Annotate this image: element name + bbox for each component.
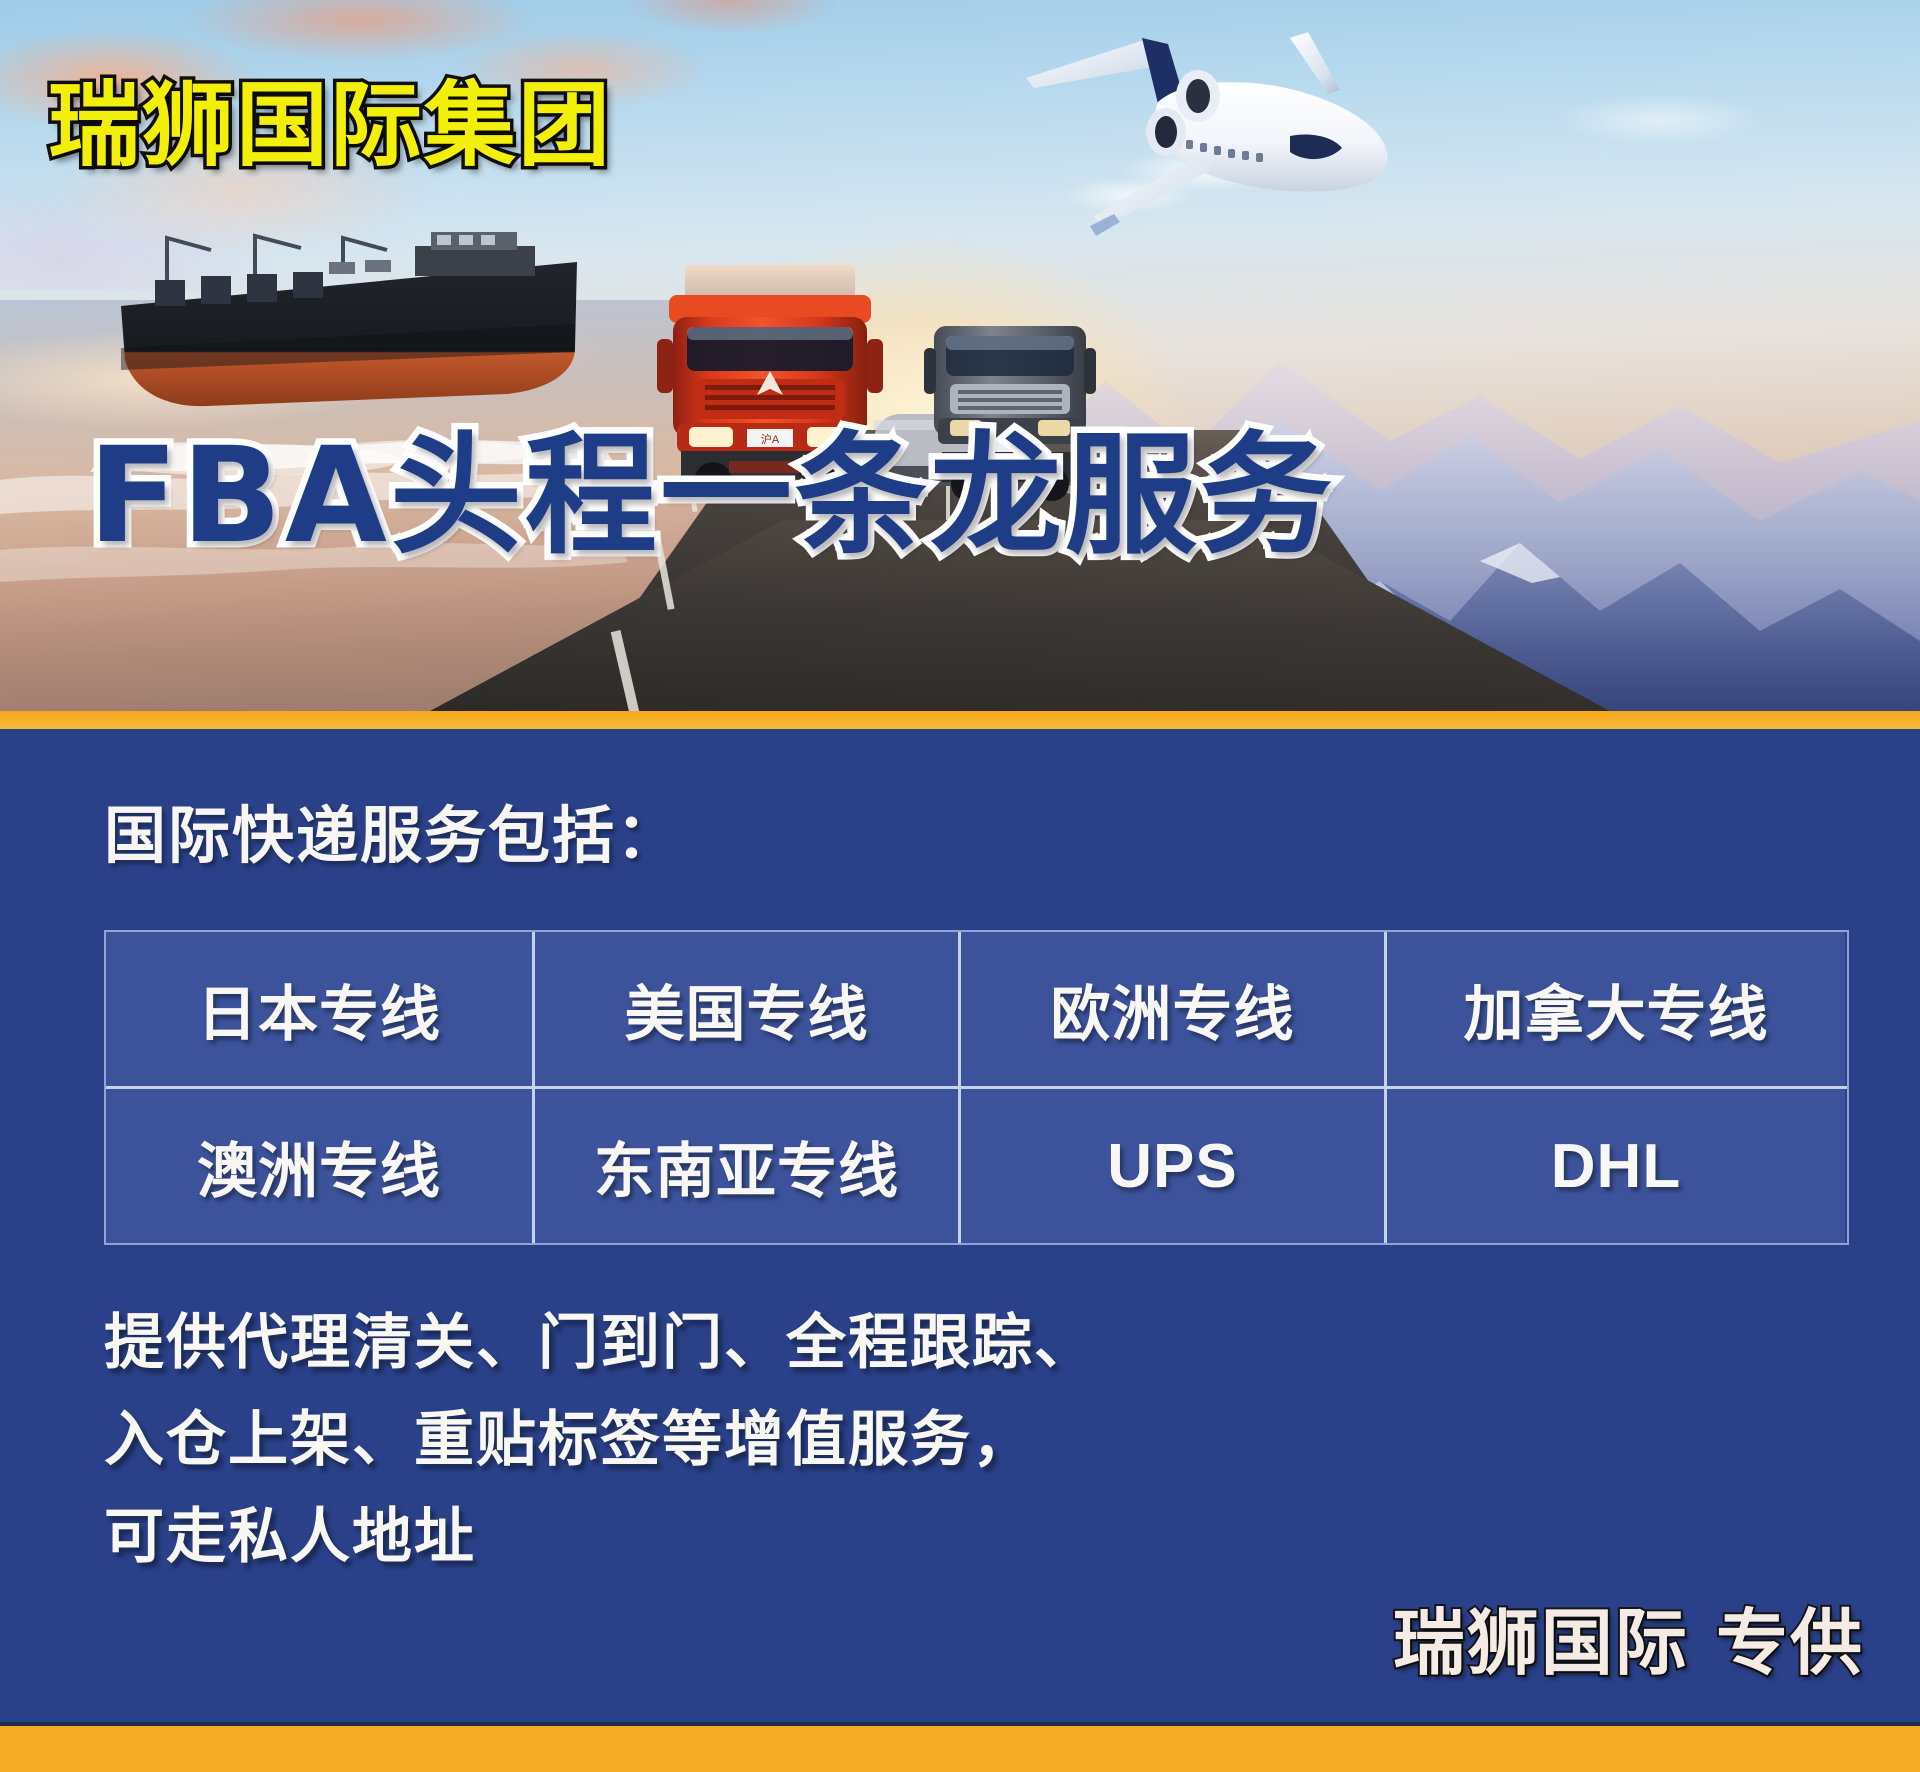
- table-cell-europe[interactable]: 欧洲专线: [958, 932, 1384, 1086]
- table-row: 日本专线 美国专线 欧洲专线 加拿大专线: [106, 932, 1847, 1086]
- page-title: FBA头程一条龙服务: [88, 430, 1335, 562]
- table-cell-usa[interactable]: 美国专线: [532, 932, 958, 1086]
- hero-banner: 沪A: [0, 0, 1920, 711]
- feature-line: 入仓上架、重贴标签等增值服务，: [104, 1392, 1096, 1489]
- table-cell-japan[interactable]: 日本专线: [106, 932, 532, 1086]
- poster-root: 沪A: [0, 0, 1920, 1772]
- bottom-bar: [0, 1726, 1920, 1772]
- footer-credit: 瑞狮国际 专供: [1393, 1607, 1864, 1679]
- gold-divider: [0, 711, 1920, 729]
- table-row: 澳洲专线 东南亚专线 UPS DHL: [106, 1086, 1847, 1243]
- table-cell-ups[interactable]: UPS: [958, 1089, 1384, 1243]
- table-cell-southeast-asia[interactable]: 东南亚专线: [532, 1089, 958, 1243]
- cargo-ship-icon: [115, 228, 585, 428]
- table-cell-dhl[interactable]: DHL: [1384, 1089, 1845, 1243]
- features-list: 提供代理清关、门到门、全程跟踪、 入仓上架、重贴标签等增值服务， 可走私人地址: [104, 1295, 1096, 1586]
- feature-line: 提供代理清关、门到门、全程跟踪、: [104, 1295, 1096, 1392]
- airplane-icon: [990, 10, 1420, 270]
- table-cell-canada[interactable]: 加拿大专线: [1384, 932, 1845, 1086]
- table-cell-australia[interactable]: 澳洲专线: [106, 1089, 532, 1243]
- feature-line: 可走私人地址: [104, 1489, 1096, 1586]
- company-logo: 瑞狮国际集团: [48, 80, 612, 172]
- service-table: 日本专线 美国专线 欧洲专线 加拿大专线 澳洲专线 东南亚专线 UPS DHL: [104, 930, 1849, 1245]
- section-subtitle: 国际快递服务包括：: [104, 805, 680, 867]
